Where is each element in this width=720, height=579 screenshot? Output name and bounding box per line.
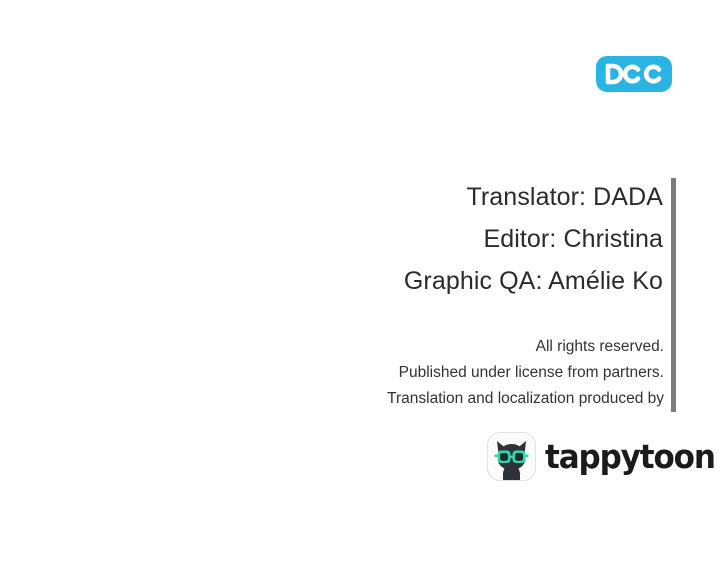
tappytoon-app-icon xyxy=(487,432,536,481)
dcc-logo-icon xyxy=(604,63,664,85)
rights-line-license: Published under license from partners. xyxy=(0,360,664,386)
rights-line-all-rights: All rights reserved. xyxy=(0,334,664,360)
credits-block: Translator: DADA Editor: Christina Graph… xyxy=(0,176,663,302)
rights-line-localization: Translation and localization produced by xyxy=(0,386,664,412)
credits-page: Translator: DADA Editor: Christina Graph… xyxy=(0,0,720,579)
credit-translator: Translator: DADA xyxy=(0,176,663,218)
dcc-logo xyxy=(596,56,672,92)
rights-notice-block: All rights reserved. Published under lic… xyxy=(0,334,664,412)
credit-graphic-qa: Graphic QA: Amélie Ko xyxy=(0,260,663,302)
vertical-rule xyxy=(671,178,676,412)
tappytoon-brand-lockup: tappytoon xyxy=(487,431,673,481)
credit-editor: Editor: Christina xyxy=(0,218,663,260)
tappytoon-wordmark: tappytoon xyxy=(545,440,715,473)
